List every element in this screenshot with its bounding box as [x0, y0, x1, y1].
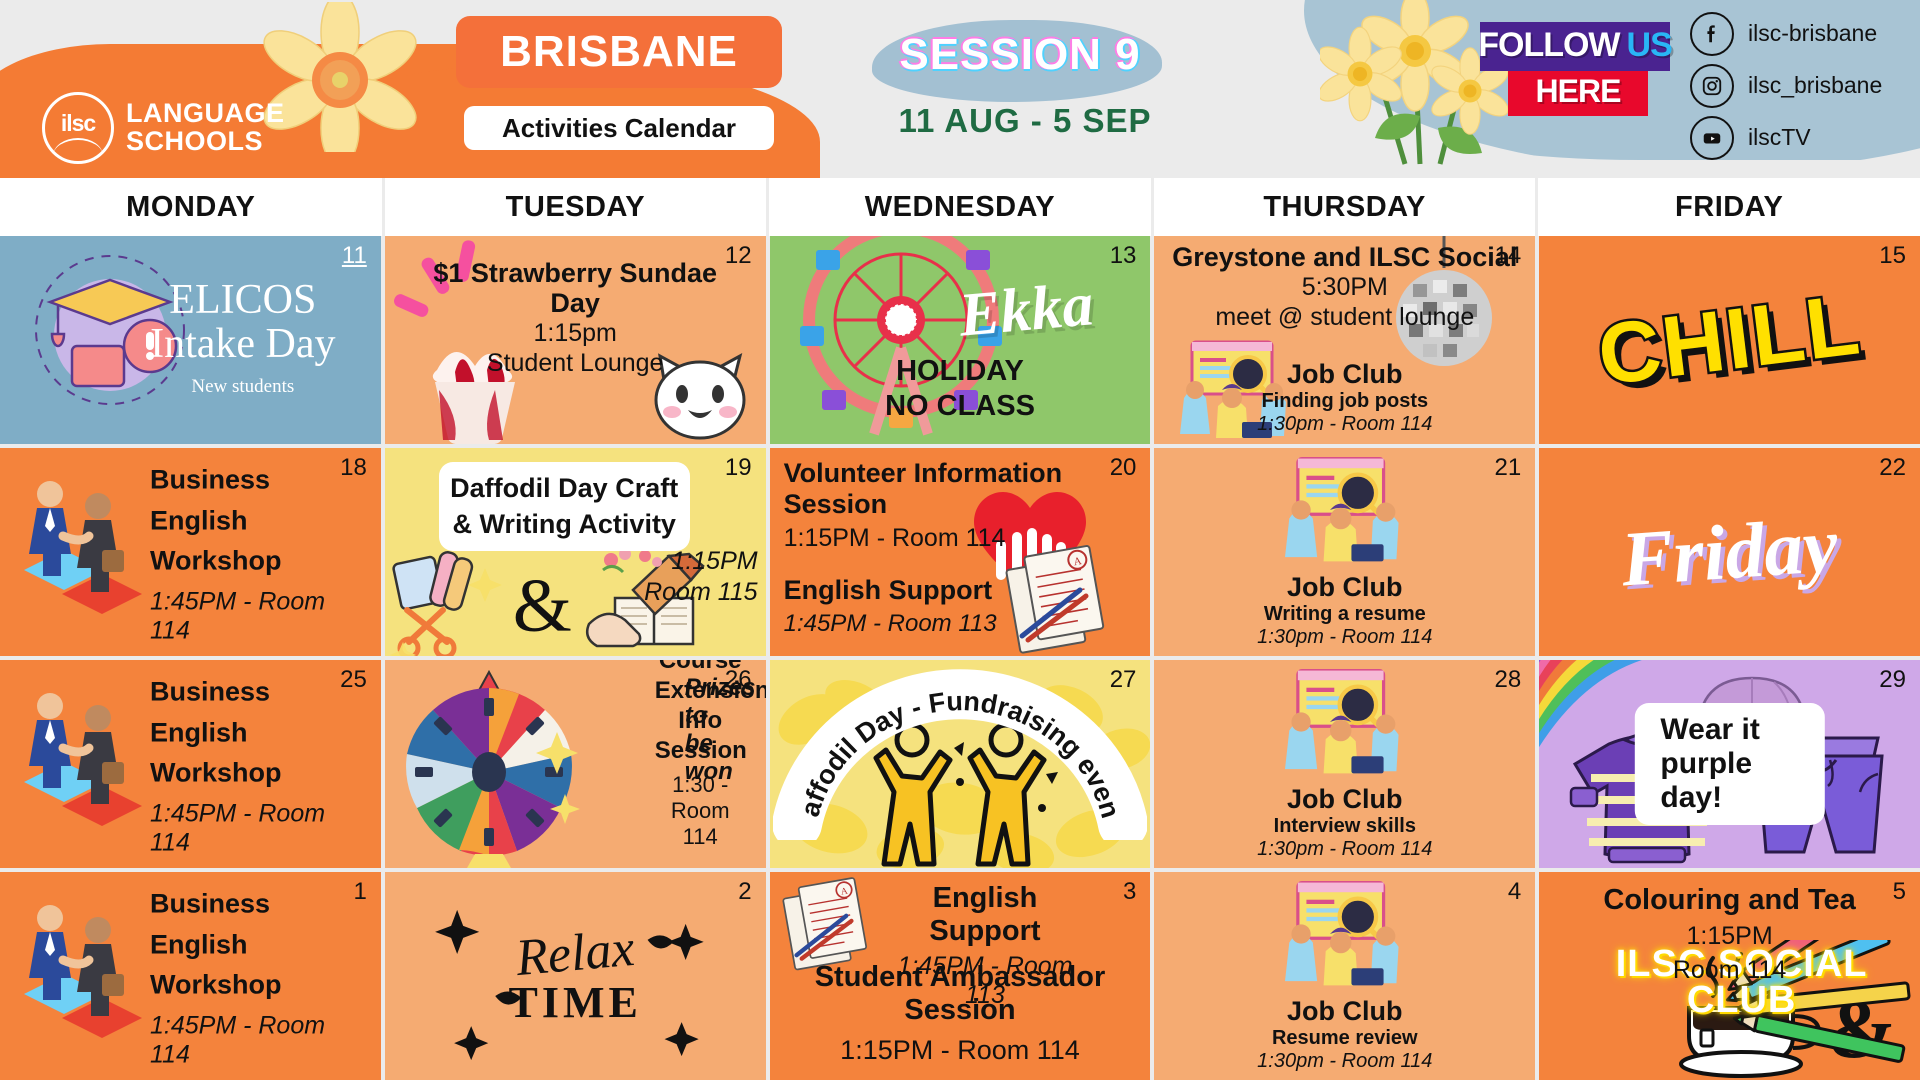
- day-number: 21: [1494, 454, 1521, 482]
- ilsc-logo-mark: ilsc: [42, 92, 114, 164]
- daffodil-craft-time-block: 1:15PM Room 115: [644, 546, 758, 609]
- day-number: 28: [1494, 666, 1521, 694]
- daffodil-craft-pill: Daffodil Day Craft & Writing Activity: [439, 462, 690, 551]
- day-cell-1[interactable]: 1 Business English Workshop 1:4: [0, 872, 381, 1080]
- follow-word-follow: FOLLOW: [1478, 26, 1619, 65]
- day-cell-27[interactable]: 27: [770, 660, 1151, 868]
- day-number: 11: [342, 242, 367, 270]
- day-number: 5: [1893, 878, 1906, 906]
- day-cell-29[interactable]: 29: [1539, 660, 1920, 868]
- session-dates: 11 AUG - 5 SEP: [880, 102, 1170, 140]
- page-subtitle: Activities Calendar: [502, 113, 736, 144]
- day-cell-21[interactable]: 21: [1154, 448, 1535, 656]
- follow-word-here: HERE: [1536, 73, 1621, 109]
- follow-us-bottom: HERE: [1508, 71, 1648, 116]
- job-club-title: Job Club: [1287, 784, 1403, 815]
- weekday-friday: FRIDAY: [1538, 178, 1920, 236]
- day-number: 2: [738, 878, 751, 906]
- student-ambassador-title: Student Ambassador Session: [770, 961, 1151, 1027]
- calendar-grid: 11 ELICOS Intake Day New students: [0, 236, 1920, 1080]
- elicos-note: New students: [123, 376, 363, 398]
- job-club-topic: Interview skills: [1274, 815, 1416, 838]
- day-cell-2[interactable]: 2 Relax TIME: [385, 872, 766, 1080]
- weekday-tuesday: TUESDAY: [385, 178, 770, 236]
- volunteer-title: Volunteer Information Session: [784, 458, 1151, 520]
- friday-label: Friday: [1618, 500, 1840, 605]
- day-cell-4[interactable]: 4: [1154, 872, 1535, 1080]
- weekday-header-row: MONDAY TUESDAY WEDNESDAY THURSDAY FRIDAY: [0, 178, 1920, 236]
- job-club-title: Job Club: [1287, 996, 1403, 1027]
- elicos-title-1: ELICOS: [123, 278, 363, 322]
- job-club-time: 1:30pm - Room 114: [1257, 1050, 1432, 1073]
- wear-purple-pill: Wear it purple day!: [1634, 703, 1824, 825]
- english-support-title: English Support: [784, 575, 997, 606]
- day-number: 18: [340, 454, 367, 482]
- business-handshake-icon: [6, 454, 156, 634]
- documents-icon: A: [776, 876, 896, 971]
- page-header: ilsc LANGUAGE SCHOOLS: [0, 0, 1920, 178]
- youtube-handle: ilscTV: [1748, 124, 1811, 151]
- english-support-time: 1:45PM - Room 113: [784, 610, 997, 638]
- ekka-holiday-text: HOLIDAY NO CLASS: [885, 354, 1035, 424]
- course-extension-time: 1:30 - Room 114: [655, 772, 746, 850]
- day-cell-19[interactable]: 19 Daffodil Day Craft & Writing Activity: [385, 448, 766, 656]
- day-cell-22[interactable]: 22 Friday: [1539, 448, 1920, 656]
- day-number: 25: [340, 666, 367, 694]
- greystone-time: 5:30PM: [1170, 272, 1519, 302]
- business-english-title: Business English Workshop: [150, 883, 363, 1005]
- day-number: 22: [1879, 454, 1906, 482]
- fundraising-arc-banner: Daffodil Day - Fundraising event!: [773, 662, 1147, 840]
- colouring-time: 1:15PM: [1539, 921, 1920, 951]
- sundae-room: Student Lounge: [411, 348, 740, 378]
- job-club-topic: Resume review: [1272, 1027, 1418, 1050]
- documents-icon: A: [998, 544, 1138, 654]
- social-links: ilsc-brisbane ilsc_brisbane ilscTV: [1690, 10, 1882, 166]
- colouring-title: Colouring and Tea: [1539, 884, 1920, 917]
- follow-word-us: US: [1627, 26, 1672, 65]
- job-club-block: Job Club Resume review 1:30pm - Room 114: [1154, 872, 1535, 1080]
- job-club-time: 1:30pm - Room 114: [1257, 838, 1432, 861]
- day-cell-20[interactable]: 20: [770, 448, 1151, 656]
- day-cell-5[interactable]: 5 ILSC SOCIAL CLUB &: [1539, 872, 1920, 1080]
- day-cell-13[interactable]: 13: [770, 236, 1151, 444]
- business-english-title: Business English Workshop: [150, 459, 363, 581]
- job-club-block: Job Club Interview skills 1:30pm - Room …: [1154, 660, 1535, 868]
- social-link-instagram[interactable]: ilsc_brisbane: [1690, 62, 1882, 109]
- english-support-title: English Support: [890, 882, 1081, 948]
- business-handshake-icon: [6, 878, 156, 1058]
- colouring-text: Colouring and Tea 1:15PM Room 114: [1539, 884, 1920, 985]
- facebook-handle: ilsc-brisbane: [1748, 20, 1877, 47]
- day-cell-3[interactable]: 3 A English Support: [770, 872, 1151, 1080]
- day-number: 29: [1879, 666, 1906, 694]
- daffodil-craft-time: 1:15PM: [644, 546, 758, 577]
- day-number: 13: [1110, 242, 1137, 270]
- day-cell-14[interactable]: 14: [1154, 236, 1535, 444]
- english-support-session: English Support 1:45PM - Room 113: [784, 575, 997, 638]
- follow-us-top: FOLLOW US: [1480, 22, 1670, 71]
- elicos-title-2: Intake Day: [123, 322, 363, 366]
- day-number: 14: [1494, 242, 1521, 270]
- daffodil-craft-title-2: & Writing Activity: [449, 506, 680, 542]
- day-number: 26: [725, 666, 752, 694]
- wear-purple-label: Wear it purple day!: [1660, 713, 1759, 814]
- facebook-icon: [1690, 12, 1734, 56]
- calendar-week-2: 18 Business English Workshop 1:: [0, 448, 1920, 656]
- business-english-time: 1:45PM - Room 114: [150, 799, 363, 857]
- calendar-page: ilsc LANGUAGE SCHOOLS: [0, 0, 1920, 1080]
- business-handshake-icon: [6, 666, 156, 846]
- day-cell-15[interactable]: 15 CHILL: [1539, 236, 1920, 444]
- daffodil-craft-title-1: Daffodil Day Craft: [449, 470, 680, 506]
- session-label: SESSION 9: [880, 30, 1160, 80]
- brand-line-2: SCHOOLS: [126, 128, 285, 156]
- business-english-time: 1:45PM - Room 114: [150, 1011, 363, 1069]
- elicos-text: ELICOS Intake Day New students: [123, 278, 363, 398]
- holiday-line-2: NO CLASS: [885, 389, 1035, 424]
- holiday-line-1: HOLIDAY: [885, 354, 1035, 389]
- student-ambassador-block: Student Ambassador Session 1:15PM - Room…: [770, 961, 1151, 1066]
- social-link-facebook[interactable]: ilsc-brisbane: [1690, 10, 1882, 57]
- day-cell-12[interactable]: 12: [385, 236, 766, 444]
- job-club-icon: [1270, 880, 1420, 988]
- day-cell-26[interactable]: 26: [385, 660, 766, 868]
- job-club-topic: Finding job posts: [1154, 390, 1535, 413]
- job-club-icon: [1270, 456, 1420, 564]
- day-cell-28[interactable]: 28: [1154, 660, 1535, 868]
- weekday-monday: MONDAY: [0, 178, 385, 236]
- day-number: 15: [1879, 242, 1906, 270]
- volunteer-session: Volunteer Information Session 1:15PM - R…: [784, 458, 1151, 553]
- day-number: 4: [1508, 878, 1521, 906]
- instagram-icon: [1690, 64, 1734, 108]
- business-english-title: Business English Workshop: [150, 671, 363, 793]
- business-english-text: Business English Workshop 1:45PM - Room …: [150, 671, 363, 857]
- weekday-thursday: THURSDAY: [1154, 178, 1539, 236]
- ekka-logo: Ekka: [926, 260, 1126, 360]
- daffodil-craft-room: Room 115: [644, 577, 758, 608]
- greystone-text: Greystone and ILSC Social 5:30PM meet @ …: [1154, 242, 1535, 332]
- sundae-time: 1:15pm: [411, 318, 740, 348]
- ilsc-logo: ilsc LANGUAGE SCHOOLS: [42, 92, 285, 164]
- sundae-text: $1 Strawberry Sundae Day 1:15pm Student …: [385, 258, 766, 378]
- chill-word: CHILL: [1539, 236, 1920, 444]
- job-club-block: Job Club Finding job posts 1:30pm - Room…: [1154, 359, 1535, 436]
- business-english-text: Business English Workshop 1:45PM - Room …: [150, 883, 363, 1069]
- relax-time-text: Relax TIME: [385, 872, 766, 1080]
- day-number: 27: [1110, 666, 1137, 694]
- day-number: 20: [1110, 454, 1137, 482]
- ilsc-logo-text: LANGUAGE SCHOOLS: [126, 100, 285, 155]
- brand-line-1: LANGUAGE: [126, 100, 285, 128]
- chill-label: CHILL: [1593, 275, 1866, 405]
- day-number: 3: [1123, 878, 1136, 906]
- ampersand-decor: &: [513, 563, 572, 650]
- follow-us-badge: FOLLOW US HERE: [1480, 22, 1670, 116]
- job-club-time: 1:30pm - Room 114: [1154, 413, 1535, 436]
- calendar-week-1: 11 ELICOS Intake Day New students: [0, 236, 1920, 444]
- weekday-wednesday: WEDNESDAY: [769, 178, 1154, 236]
- job-club-title: Job Club: [1287, 572, 1403, 603]
- instagram-handle: ilsc_brisbane: [1748, 72, 1882, 99]
- relax-word: Relax: [514, 919, 637, 988]
- day-cell-18[interactable]: 18 Business English Workshop 1:: [0, 448, 381, 656]
- greystone-place: meet @ student lounge: [1170, 302, 1519, 332]
- job-club-time: 1:30pm - Room 114: [1257, 626, 1432, 649]
- job-club-topic: Writing a resume: [1264, 603, 1426, 626]
- friday-word: Friday: [1539, 448, 1920, 656]
- calendar-week-3: 25 Business English Workshop 1:: [0, 660, 1920, 868]
- calendar-week-4: 1 Business English Workshop 1:4: [0, 872, 1920, 1080]
- job-club-block: Job Club Writing a resume 1:30pm - Room …: [1154, 448, 1535, 656]
- craft-supplies-icon: [389, 546, 529, 656]
- subtitle-badge: Activities Calendar: [464, 106, 774, 150]
- job-club-icon: [1270, 668, 1420, 776]
- volunteer-time: 1:15PM - Room 114: [784, 524, 1151, 553]
- page-title: BRISBANE: [500, 27, 738, 77]
- greystone-title: Greystone and ILSC Social: [1170, 242, 1519, 272]
- ilsc-logo-mark-text: ilsc: [61, 112, 95, 135]
- day-number: 1: [353, 878, 366, 906]
- day-number: 12: [725, 242, 752, 270]
- prize-wheel-icon: [389, 668, 589, 868]
- student-ambassador-time: 1:15PM - Room 114: [770, 1035, 1151, 1066]
- day-cell-25[interactable]: 25 Business English Workshop 1:: [0, 660, 381, 868]
- colouring-room: Room 114: [1539, 955, 1920, 985]
- job-club-title: Job Club: [1154, 359, 1535, 390]
- title-badge: BRISBANE: [456, 16, 782, 88]
- business-english-text: Business English Workshop 1:45PM - Room …: [150, 459, 363, 645]
- sundae-title: $1 Strawberry Sundae Day: [411, 258, 740, 318]
- ekka-label: Ekka: [956, 269, 1096, 351]
- business-english-time: 1:45PM - Room 114: [150, 587, 363, 645]
- social-link-youtube[interactable]: ilscTV: [1690, 114, 1882, 161]
- youtube-icon: [1690, 116, 1734, 160]
- day-cell-11[interactable]: 11 ELICOS Intake Day New students: [0, 236, 381, 444]
- day-number: 19: [725, 454, 752, 482]
